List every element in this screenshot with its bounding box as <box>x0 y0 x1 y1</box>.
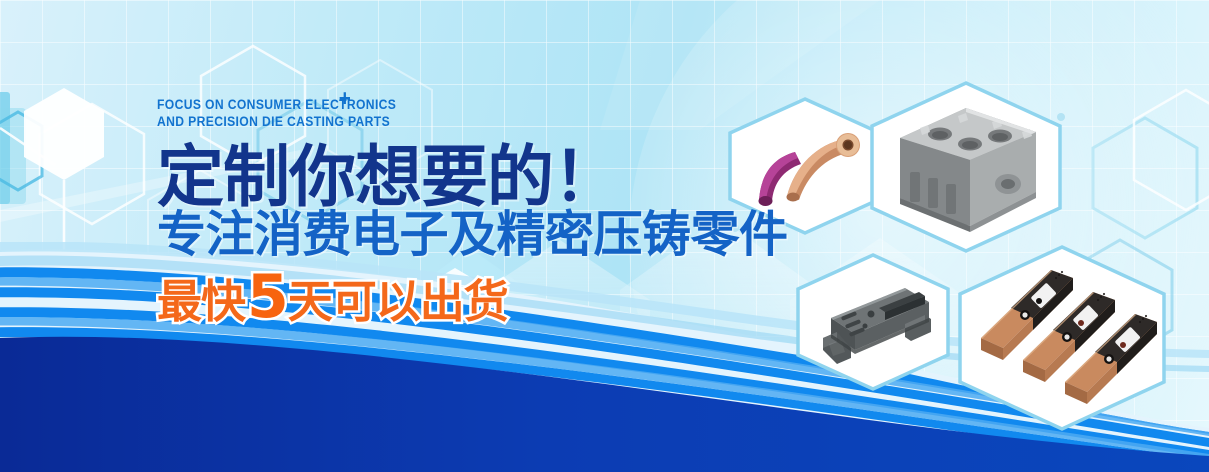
product-hex-phone-frames <box>955 244 1170 432</box>
headline-primary: 定制你想要的！ <box>157 143 788 211</box>
headline-secondary: 专注消费电子及精密压铸零件 <box>157 209 788 260</box>
headline-group: FOCUS ON CONSUMER ELECTRONICS AND PRECIS… <box>157 96 788 327</box>
shipping-prefix: 最快 <box>157 279 245 324</box>
product-hex-engine-block <box>866 80 1066 254</box>
plus-icon: + <box>339 87 351 110</box>
headline-shipping-promise: 最快 5 天可以出货 <box>157 267 788 327</box>
tagline: FOCUS ON CONSUMER ELECTRONICS AND PRECIS… <box>157 96 724 130</box>
shipping-suffix: 天可以出货 <box>288 279 508 324</box>
promo-banner: FOCUS ON CONSUMER ELECTRONICS AND PRECIS… <box>0 0 1209 472</box>
tagline-line-2: AND PRECISION DIE CASTING PARTS <box>157 113 724 130</box>
product-hex-gray-housing <box>793 252 953 392</box>
tagline-line-1: FOCUS ON CONSUMER ELECTRONICS <box>157 96 724 113</box>
shipping-days-number: 5 <box>247 267 287 327</box>
